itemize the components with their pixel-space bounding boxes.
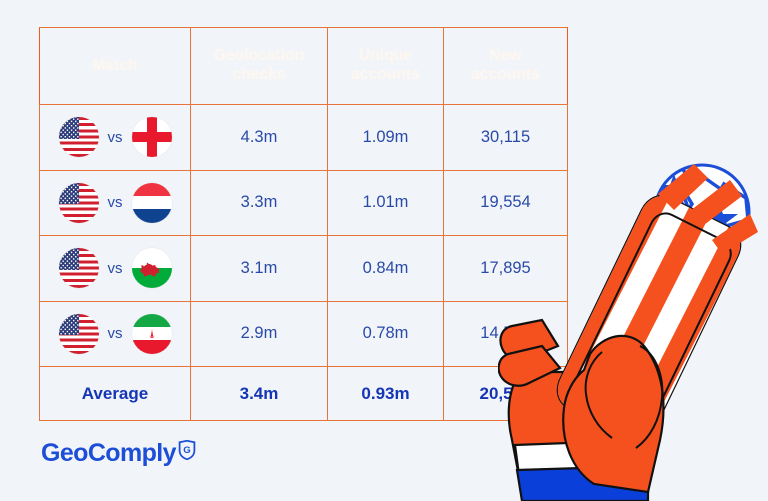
unique-accounts-value: 1.01m bbox=[328, 170, 444, 236]
table-row: vs 2.9m 0.78m 14,516 bbox=[40, 301, 568, 367]
england-flag-icon bbox=[132, 117, 172, 157]
column-header-geolocation-checks: Geolocation checks bbox=[191, 28, 328, 105]
welsh-dragon-icon bbox=[136, 256, 168, 280]
vs-label: vs bbox=[108, 260, 123, 277]
average-label: Average bbox=[40, 367, 191, 421]
usa-flag-icon bbox=[59, 314, 99, 354]
match-cell: vs bbox=[40, 170, 191, 236]
column-header-unique-accounts: Unique accounts bbox=[328, 28, 444, 105]
match-pair: vs bbox=[40, 183, 190, 223]
vs-label: vs bbox=[108, 325, 123, 342]
table-row: vs 4.3m 1.09m 30,115 bbox=[40, 105, 568, 171]
table-row: vs 3.3m 1.01m 19,554 bbox=[40, 170, 568, 236]
hand-holding-phone-illustration bbox=[498, 140, 768, 501]
match-cell: vs bbox=[40, 105, 191, 171]
column-header-match: Match bbox=[40, 28, 191, 105]
shield-icon: G bbox=[178, 440, 196, 465]
match-cell: vs bbox=[40, 236, 191, 302]
column-header-match-label: Match bbox=[92, 57, 137, 74]
unique-accounts-value: 1.09m bbox=[328, 105, 444, 171]
unique-accounts-value: 0.84m bbox=[328, 236, 444, 302]
column-header-unique-accounts-line1: Unique bbox=[359, 47, 412, 64]
column-header-new-accounts: New accounts bbox=[444, 28, 568, 105]
column-header-geolocation-checks-line1: Geolocation bbox=[214, 47, 305, 64]
logo-wordmark: GeoComply bbox=[41, 441, 176, 466]
geocomply-logo[interactable]: GeoComply G bbox=[41, 441, 196, 466]
vs-label: vs bbox=[108, 194, 123, 211]
illustration-svg bbox=[498, 140, 768, 501]
stats-table: Match Geolocation checks Unique accounts… bbox=[39, 27, 568, 421]
column-header-geolocation-checks-line2: checks bbox=[232, 66, 285, 83]
geolocation-checks-value: 3.3m bbox=[191, 170, 328, 236]
column-header-unique-accounts-line2: accounts bbox=[351, 66, 420, 83]
iran-flag-icon bbox=[132, 314, 172, 354]
match-pair: vs bbox=[40, 117, 190, 157]
netherlands-flag-icon bbox=[132, 183, 172, 223]
geolocation-checks-value: 2.9m bbox=[191, 301, 328, 367]
infographic-canvas: Match Geolocation checks Unique accounts… bbox=[0, 0, 768, 501]
average-unique-accounts: 0.93m bbox=[328, 367, 444, 421]
geolocation-checks-value: 4.3m bbox=[191, 105, 328, 171]
table-row: vs 3.1m 0.84m 17,895 bbox=[40, 236, 568, 302]
column-header-new-accounts-line1: New bbox=[489, 47, 521, 64]
table-header-row: Match Geolocation checks Unique accounts… bbox=[40, 28, 568, 105]
average-geolocation-checks: 3.4m bbox=[191, 367, 328, 421]
geolocation-checks-value: 3.1m bbox=[191, 236, 328, 302]
usa-flag-icon bbox=[59, 117, 99, 157]
column-header-new-accounts-line2: accounts bbox=[471, 66, 540, 83]
match-pair: vs bbox=[40, 314, 190, 354]
stats-table-container: Match Geolocation checks Unique accounts… bbox=[39, 27, 567, 421]
table-row-average: Average 3.4m 0.93m 20,520 bbox=[40, 367, 568, 421]
match-pair: vs bbox=[40, 248, 190, 288]
shield-letter: G bbox=[183, 445, 190, 456]
vs-label: vs bbox=[108, 129, 123, 146]
usa-flag-icon bbox=[59, 248, 99, 288]
iran-emblem-icon bbox=[146, 328, 157, 339]
usa-flag-icon bbox=[59, 183, 99, 223]
unique-accounts-value: 0.78m bbox=[328, 301, 444, 367]
shield-svg: G bbox=[178, 440, 196, 460]
table-body: vs 4.3m 1.09m 30,115 bbox=[40, 105, 568, 421]
match-cell: vs bbox=[40, 301, 191, 367]
wales-flag-icon bbox=[132, 248, 172, 288]
table-header: Match Geolocation checks Unique accounts… bbox=[40, 28, 568, 105]
